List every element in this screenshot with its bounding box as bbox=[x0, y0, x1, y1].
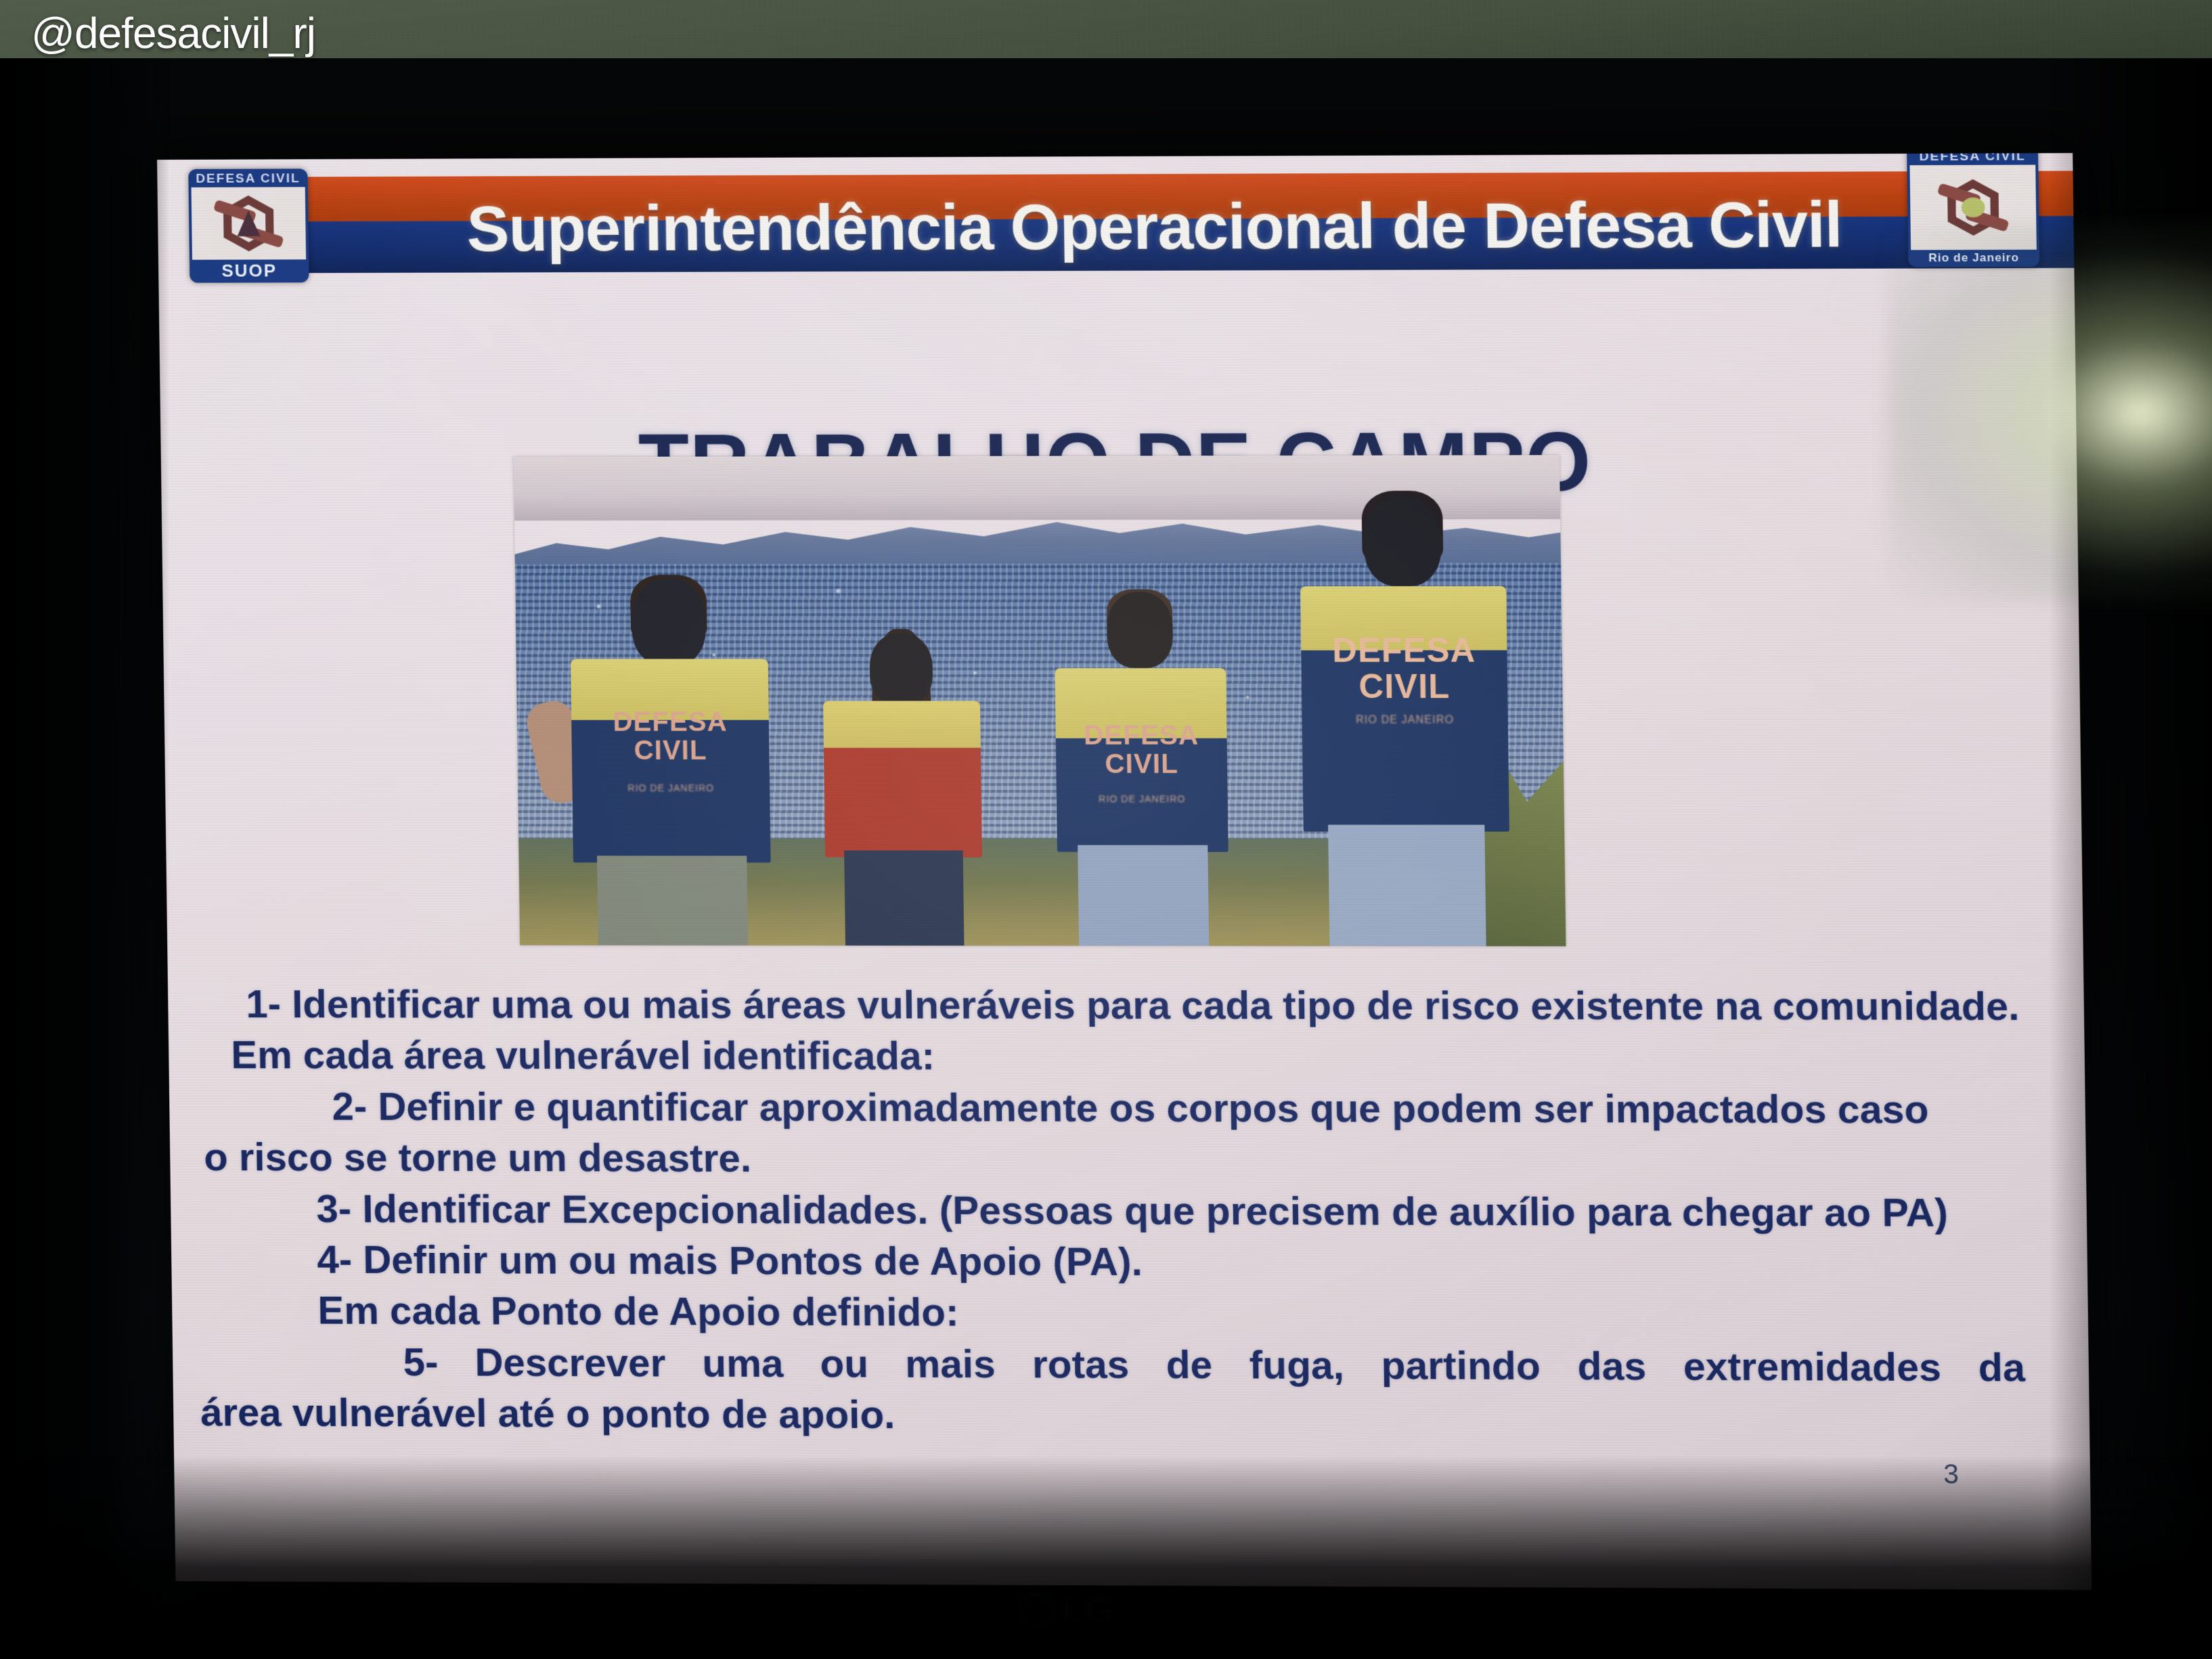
suop-logo-bottom-text: SUOP bbox=[221, 261, 277, 279]
rj-logo-bottom-text: Rio de Janeiro bbox=[1928, 252, 2019, 264]
body-line-4: o risco se torne um desastre. bbox=[170, 1132, 2087, 1187]
body-line-1: 1- Identificar uma ou mais áreas vulnerá… bbox=[168, 979, 2084, 1033]
slide-body-text: 1- Identificar uma ou mais áreas vulnerá… bbox=[168, 979, 2090, 1445]
vest-subtext-1: RIO DE JANEIRO bbox=[572, 782, 770, 793]
lg-brand-logo: LG bbox=[1019, 1587, 1161, 1634]
body-line-5: 3- Identificar Excepcionalidades. (Pesso… bbox=[171, 1183, 2087, 1239]
rj-logo-emblem bbox=[1909, 164, 2036, 250]
watermark-handle: @defesacivil_rj bbox=[31, 8, 315, 58]
suop-logo-emblem bbox=[192, 187, 307, 260]
lg-ring-icon bbox=[1019, 1592, 1055, 1629]
vest-subtext-3: RIO DE JANEIRO bbox=[1057, 793, 1228, 804]
slide-header-banner: DEFESA CIVIL SUOP Superintendência Opera… bbox=[157, 165, 2074, 273]
body-line-3: 2- Definir e quantificar aproximadamente… bbox=[169, 1081, 2086, 1136]
hexagon-emblem-icon bbox=[219, 194, 278, 252]
photo-agent-4: DEFESACIVIL RIO DE JANEIRO bbox=[1299, 496, 1511, 946]
photo-agent-3: DEFESACIVIL RIO DE JANEIRO bbox=[1054, 592, 1230, 946]
slide-canvas: DEFESA CIVIL SUOP Superintendência Opera… bbox=[157, 153, 2092, 1590]
vest-text-1b: CIVIL bbox=[634, 736, 707, 766]
photo-agent-1: DEFESACIVIL RIO DE JANEIRO bbox=[569, 579, 772, 946]
vest-text-3a: DEFESA bbox=[1084, 721, 1199, 751]
suop-logo: DEFESA CIVIL SUOP bbox=[188, 169, 309, 283]
projected-slide: DEFESA CIVIL SUOP Superintendência Opera… bbox=[157, 153, 2092, 1590]
lg-brand-text: LG bbox=[1062, 1590, 1115, 1631]
body-line-7: Em cada Ponto de Apoio definido: bbox=[172, 1285, 2089, 1342]
body-line-6: 4- Definir um ou mais Pontos de Apoio (P… bbox=[171, 1234, 2088, 1291]
suop-logo-top-text: DEFESA CIVIL bbox=[196, 172, 301, 185]
hexagon-emblem-icon bbox=[1943, 178, 2004, 237]
field-work-photo: DEFESACIVIL RIO DE JANEIRO DEFESACIVIL R… bbox=[514, 455, 1566, 946]
vest-text-4b: CIVIL bbox=[1358, 667, 1450, 705]
photo-agent-2 bbox=[822, 626, 983, 946]
vest-text-4a: DEFESA bbox=[1332, 631, 1476, 669]
defesa-civil-rj-logo: DEFESA CIVIL Rio de Janeiro bbox=[1907, 153, 2039, 267]
body-line-8: 5- Descrever uma ou mais rotas de fuga, … bbox=[173, 1336, 2089, 1394]
television-panel: LG DEFESA CIVIL SUOP bbox=[0, 58, 2212, 1659]
body-line-2: Em cada área vulnerável identificada: bbox=[169, 1030, 2085, 1084]
vest-text-3b: CIVIL bbox=[1105, 749, 1178, 779]
rj-logo-top-text: DEFESA CIVIL bbox=[1919, 153, 2026, 163]
body-line-9: área vulnerável até o ponto de apoio. bbox=[173, 1387, 2090, 1445]
vest-text-1a: DEFESA bbox=[613, 707, 728, 737]
slide-number: 3 bbox=[1943, 1459, 1959, 1490]
header-title: Superintendência Operacional de Defesa C… bbox=[361, 179, 1950, 274]
vest-subtext-4: RIO DE JANEIRO bbox=[1302, 714, 1507, 726]
